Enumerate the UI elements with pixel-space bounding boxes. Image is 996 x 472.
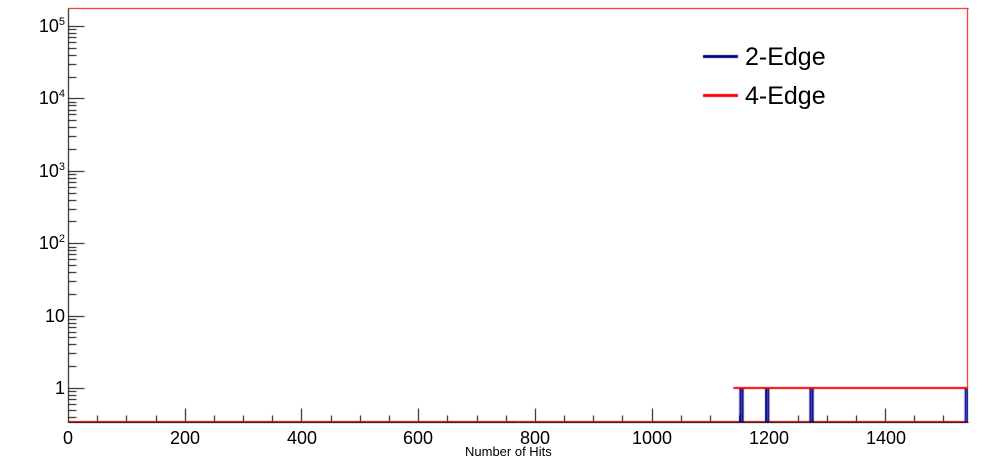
xtick-label-1400: 1400 <box>861 428 911 449</box>
ytick-exponent: 2 <box>59 233 65 245</box>
ytick-label-10: 10 <box>25 306 65 327</box>
ytick-exponent: 3 <box>59 161 65 173</box>
chart-root: 105 104 103 102 10 1 0 200 400 600 800 1… <box>0 0 996 472</box>
ytick-mantissa: 10 <box>39 233 59 253</box>
ytick-exponent: 5 <box>59 16 65 28</box>
ytick-label-1: 1 <box>25 378 65 399</box>
legend-label-2-edge: 2-Edge <box>745 43 826 72</box>
xtick-label-1200: 1200 <box>744 428 794 449</box>
legend-label-4-edge: 4-Edge <box>745 82 826 111</box>
ytick-label-100000: 105 <box>39 16 65 37</box>
xtick-label-0: 0 <box>48 428 88 449</box>
xtick-label-200: 200 <box>165 428 205 449</box>
ytick-label-1000: 103 <box>39 161 65 182</box>
ytick-mantissa: 10 <box>39 161 59 181</box>
ytick-label-100: 102 <box>39 233 65 254</box>
ytick-mantissa: 10 <box>39 88 59 108</box>
ytick-exponent: 4 <box>59 88 65 100</box>
ytick-label-10000: 104 <box>39 88 65 109</box>
xaxis-title: Number of Hits <box>465 444 552 459</box>
ytick-mantissa: 10 <box>39 16 59 36</box>
xtick-label-1000: 1000 <box>627 428 677 449</box>
xtick-label-600: 600 <box>398 428 438 449</box>
xtick-label-400: 400 <box>282 428 322 449</box>
histogram-plot-canvas <box>0 0 996 472</box>
